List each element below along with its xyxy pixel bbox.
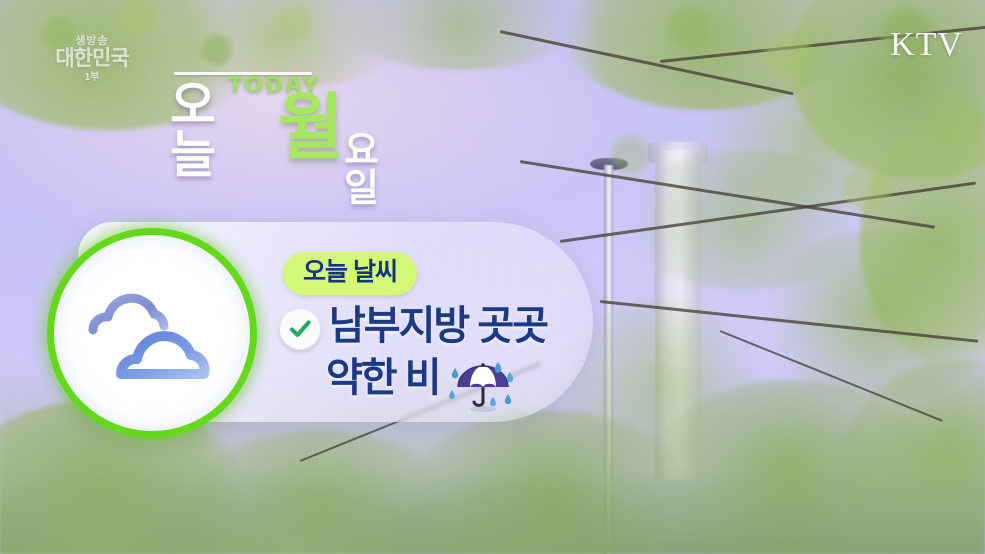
forecast-line-1: 남부지방 곳곳 — [329, 306, 547, 346]
program-part: 1부 — [42, 73, 142, 83]
program-logo: 생방송 대한민국 1부 — [42, 36, 142, 83]
today-weather-badge: 오늘 날씨 — [283, 252, 417, 295]
headline-day: 월 — [278, 92, 341, 164]
partly-cloudy-icon — [47, 228, 257, 438]
check-circle-icon — [279, 308, 321, 350]
headline-today-ko: 오늘 — [170, 80, 214, 180]
forecast-line-2: 약한 비 — [326, 358, 440, 398]
ktv-watermark: KTV — [890, 28, 963, 62]
headline-day-suffix: 요일 — [344, 132, 377, 208]
program-title: 대한민국 — [42, 48, 142, 70]
program-tagline: 생방송 — [42, 36, 142, 47]
broadcast-frame: KTV 생방송 대한민국 1부 TODAY 오늘 월 요일 — [0, 0, 985, 554]
umbrella-with-rain-icon — [448, 352, 518, 414]
